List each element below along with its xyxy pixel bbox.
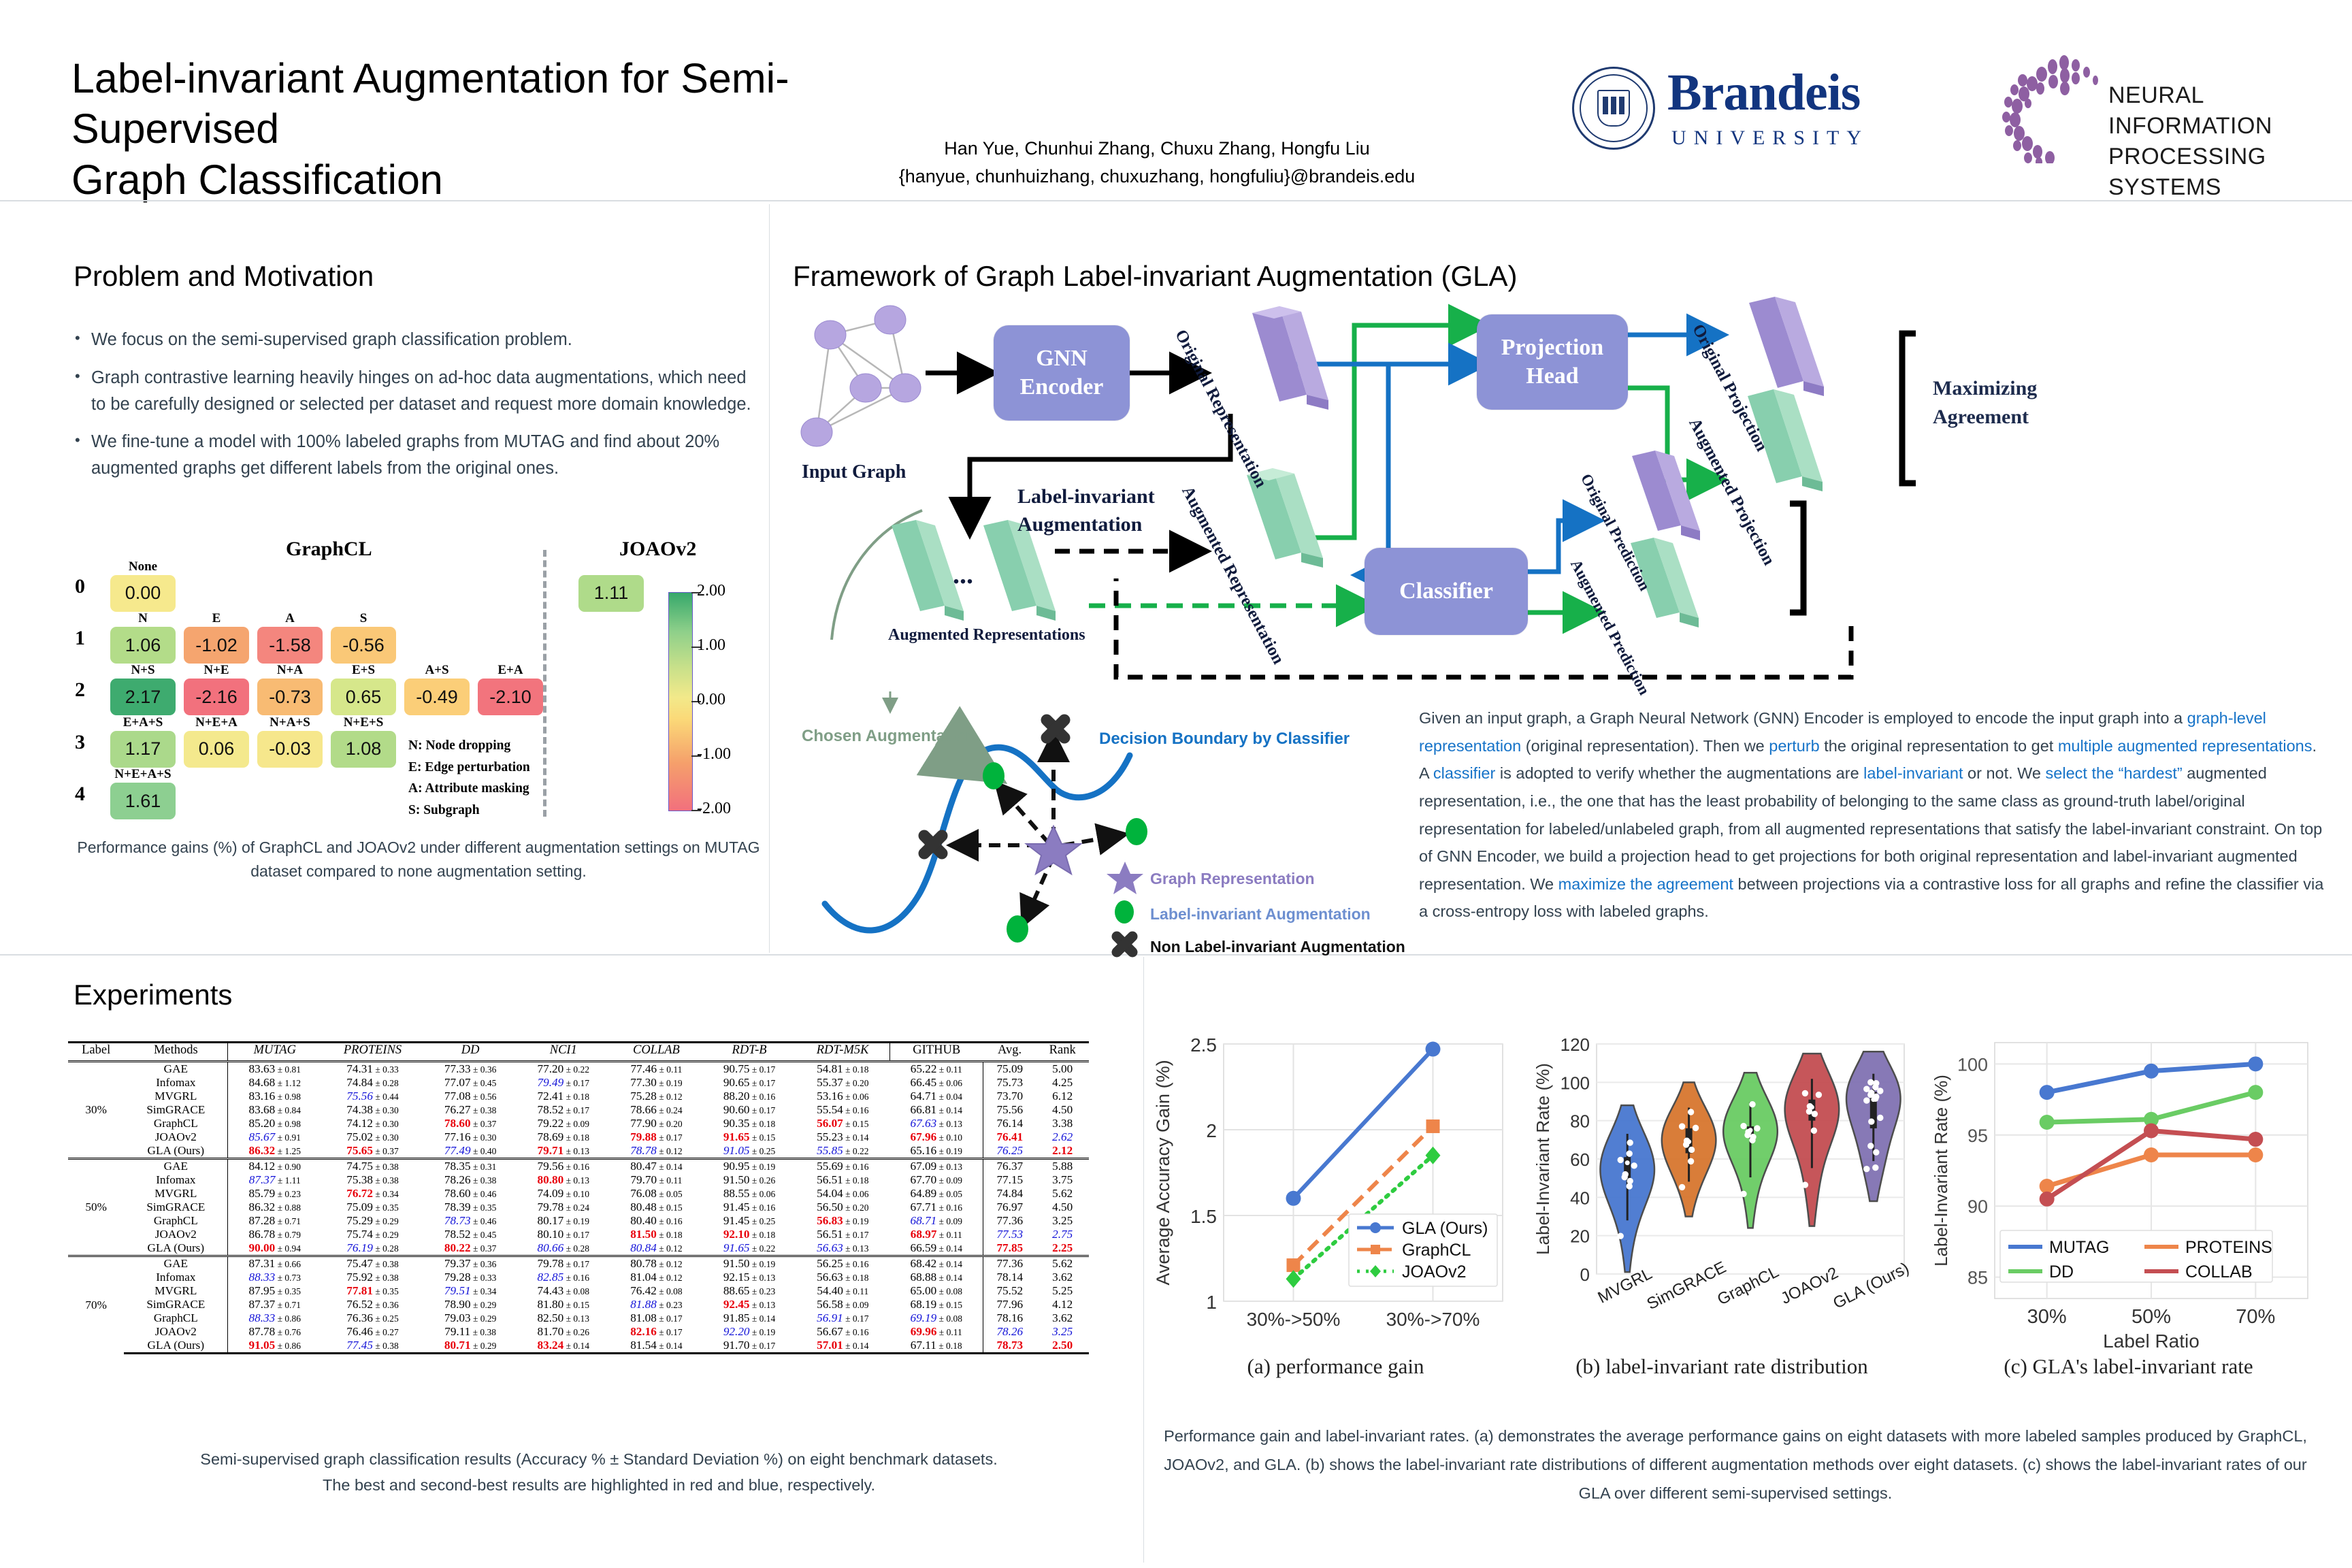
- table-mean-value: 78.60: [444, 1117, 471, 1130]
- table-mean-value: 72.41: [538, 1090, 564, 1102]
- table-cell: 76.36 ± 0.25: [321, 1311, 424, 1325]
- table-std-value: ± 0.13: [936, 1119, 962, 1129]
- table-std-value: ± 0.09: [936, 1216, 962, 1226]
- description-text: Given an input graph, a Graph Neural Net…: [1419, 709, 2187, 727]
- table-std-value: ± 0.18: [657, 1230, 683, 1240]
- table-cell: 83.24 ± 0.14: [517, 1339, 610, 1354]
- table-cell-rank: 5.00: [1036, 1062, 1089, 1077]
- y-tick-label: 85: [1967, 1268, 1988, 1288]
- table-cell: 86.78 ± 0.79: [228, 1228, 321, 1241]
- table-avg-value: 76.25: [996, 1144, 1023, 1157]
- table-avg-value: 74.84: [996, 1187, 1023, 1200]
- table-cell: 77.33 ± 0.36: [424, 1062, 517, 1077]
- table-std-value: ± 0.13: [936, 1162, 962, 1172]
- heatmap-colorbar: [668, 592, 693, 811]
- chart-label-invariant-distribution: 020406080100120MVGRLSimGRACEGraphCLJOAOv…: [1531, 1034, 1916, 1347]
- table-mean-value: 86.32: [249, 1200, 276, 1213]
- table-mean-value: 87.78: [249, 1325, 276, 1338]
- table-mean-value: 83.68: [249, 1103, 276, 1116]
- table-cell: 68.71 ± 0.09: [889, 1214, 983, 1228]
- table-cell: 68.19 ± 0.15: [889, 1298, 983, 1311]
- table-cell: 79.22 ± 0.09: [517, 1117, 610, 1130]
- table-std-value: ± 0.17: [750, 1341, 776, 1351]
- table-std-value: ± 0.16: [843, 1259, 869, 1269]
- table-std-value: ± 0.84: [275, 1105, 301, 1115]
- table-mean-value: 55.37: [817, 1076, 843, 1089]
- table-cell: 77.16 ± 0.30: [424, 1130, 517, 1144]
- heatmap-cell-label: A: [257, 611, 323, 626]
- table-std-value: ± 0.17: [563, 1230, 589, 1240]
- table-method-cell: SimGRACE: [124, 1298, 227, 1311]
- table-cell: 74.75 ± 0.38: [321, 1159, 424, 1174]
- table-cell-avg: 76.41: [983, 1130, 1036, 1144]
- table-std-value: ± 0.38: [373, 1273, 399, 1283]
- table-rank-value: 4.12: [1052, 1298, 1073, 1311]
- classifier-label: Classifier: [1399, 577, 1493, 606]
- table-std-value: ± 1.12: [275, 1078, 301, 1088]
- table-mean-value: 91.70: [723, 1339, 750, 1352]
- table-row: MVGRL85.79 ± 0.2376.72 ± 0.3478.60 ± 0.4…: [68, 1187, 1089, 1200]
- poster-root: Label-invariant Augmentation for Semi-Su…: [0, 0, 2352, 1568]
- results-table-caption: Semi-supervised graph classification res…: [68, 1446, 1130, 1498]
- table-std-value: ± 0.36: [471, 1064, 497, 1075]
- table-rank-value: 5.25: [1052, 1284, 1073, 1297]
- heatmap-title-joaov2: JOAOv2: [619, 538, 696, 561]
- table-cell-avg: 77.85: [983, 1241, 1036, 1256]
- table-std-value: ± 0.24: [563, 1203, 589, 1213]
- table-cell: 55.54 ± 0.16: [796, 1103, 889, 1117]
- table-mean-value: 54.81: [817, 1062, 843, 1075]
- table-mean-value: 90.00: [249, 1241, 276, 1254]
- table-mean-value: 66.59: [910, 1241, 936, 1254]
- table-cell: 80.48 ± 0.15: [610, 1200, 703, 1214]
- table-mean-value: 55.54: [817, 1103, 843, 1116]
- table-std-value: ± 0.30: [471, 1132, 497, 1143]
- table-cell: 66.81 ± 0.14: [889, 1103, 983, 1117]
- table-std-value: ± 0.12: [657, 1146, 683, 1156]
- table-mean-value: 67.71: [910, 1200, 936, 1213]
- table-cell: 77.81 ± 0.35: [321, 1284, 424, 1298]
- table-std-value: ± 0.35: [373, 1203, 399, 1213]
- table-cell-rank: 3.62: [1036, 1311, 1089, 1325]
- table-cell: 84.68 ± 1.12: [228, 1076, 321, 1090]
- table-std-value: ± 0.11: [843, 1286, 868, 1296]
- table-std-value: ± 0.38: [470, 1327, 496, 1337]
- heatmap-row-label: 2: [75, 679, 85, 702]
- table-std-value: ± 0.14: [936, 1273, 962, 1283]
- table-cell: 87.37 ± 0.71: [228, 1298, 321, 1311]
- table-cell: 56.25 ± 0.16: [796, 1256, 889, 1271]
- table-std-value: ± 0.71: [275, 1300, 301, 1310]
- author-emails: {hanyue, chunhuizhang, chuxuzhang, hongf…: [837, 163, 1477, 191]
- table-cell: 55.69 ± 0.16: [796, 1159, 889, 1174]
- table-cell: 87.28 ± 0.71: [228, 1214, 321, 1228]
- table-std-value: ± 0.14: [936, 1243, 962, 1254]
- table-mean-value: 81.50: [630, 1228, 657, 1241]
- table-std-value: ± 0.73: [275, 1273, 301, 1283]
- table-avg-value: 73.70: [996, 1090, 1023, 1102]
- table-std-value: ± 0.56: [471, 1092, 497, 1102]
- table-method-cell: GAE: [124, 1159, 227, 1174]
- table-cell: 83.16 ± 0.98: [228, 1090, 321, 1103]
- table-mean-value: 56.25: [817, 1257, 843, 1270]
- augmentation-heatmap: GraphCL JOAOv2 0None0.001N1.06E-1.02A-1.…: [75, 538, 762, 823]
- table-mean-value: 67.09: [910, 1160, 936, 1173]
- table-std-value: ± 0.23: [657, 1300, 683, 1310]
- table-mean-value: 75.28: [630, 1090, 657, 1102]
- table-cell: 90.95 ± 0.19: [703, 1159, 796, 1174]
- table-cell: 81.04 ± 0.12: [610, 1271, 703, 1284]
- table-mean-value: 80.47: [630, 1160, 657, 1173]
- table-mean-value: 68.71: [910, 1214, 936, 1227]
- table-mean-value: 81.88: [630, 1298, 657, 1311]
- projection-head-label-2: Head: [1526, 363, 1578, 389]
- table-std-value: ± 0.38: [373, 1162, 399, 1172]
- table-cell: 76.27 ± 0.38: [424, 1103, 517, 1117]
- brandeis-logo: Brandeis UNIVERSITY: [1572, 60, 1933, 155]
- augmented-representations-label: Augmented Representations: [888, 626, 1085, 644]
- classifier-box: Classifier: [1365, 548, 1528, 635]
- table-cell: 78.52 ± 0.17: [517, 1103, 610, 1117]
- table-std-value: ± 0.29: [471, 1313, 497, 1324]
- table-cell: 90.60 ± 0.17: [703, 1103, 796, 1117]
- table-mean-value: 90.65: [723, 1076, 750, 1089]
- table-cell: 77.46 ± 0.11: [610, 1062, 703, 1077]
- table-mean-value: 74.43: [538, 1284, 564, 1297]
- table-method-cell: GraphCL: [124, 1117, 227, 1130]
- table-mean-value: 83.24: [538, 1339, 564, 1352]
- table-mean-value: 88.55: [723, 1187, 750, 1200]
- table-cell: 81.80 ± 0.15: [517, 1298, 610, 1311]
- table-rank-value: 5.88: [1052, 1160, 1073, 1173]
- table-avg-value: 78.73: [996, 1339, 1023, 1352]
- legend-entry: DD: [2049, 1262, 2074, 1281]
- table-cell-avg: 75.09: [983, 1062, 1036, 1077]
- table-mean-value: 77.07: [444, 1076, 471, 1089]
- table-cell: 74.38 ± 0.30: [321, 1103, 424, 1117]
- table-cell: 83.63 ± 0.81: [228, 1062, 321, 1077]
- table-std-value: ± 0.13: [563, 1146, 589, 1156]
- table-cell: 64.71 ± 0.04: [889, 1090, 983, 1103]
- table-method-cell: JOAOv2: [124, 1325, 227, 1339]
- heatmap-cell: 1.61: [110, 783, 176, 819]
- decision-boundary-label: Decision Boundary by Classifier: [1099, 730, 1350, 749]
- table-column-header: RDT-B: [703, 1043, 796, 1062]
- table-cell-rank: 2.62: [1036, 1130, 1089, 1144]
- table-mean-value: 91.65: [723, 1241, 750, 1254]
- table-mean-value: 74.09: [538, 1187, 564, 1200]
- chart-a-caption: (a) performance gain: [1150, 1354, 1521, 1379]
- heatmap-cell-label: N+A+S: [257, 715, 323, 730]
- table-mean-value: 80.22: [444, 1241, 471, 1254]
- table-mean-value: 75.47: [346, 1257, 373, 1270]
- table-mean-value: 75.09: [346, 1200, 373, 1213]
- table-std-value: ± 0.46: [471, 1216, 497, 1226]
- table-std-value: ± 0.98: [275, 1092, 301, 1102]
- heatmap-cell: 1.17: [110, 731, 176, 768]
- table-row: 70%GAE87.31 ± 0.6675.47 ± 0.3879.37 ± 0.…: [68, 1256, 1089, 1271]
- legend-entry: MUTAG: [2049, 1238, 2109, 1257]
- table-rank-value: 6.12: [1052, 1090, 1073, 1102]
- description-highlight: select the “hardest”: [2046, 764, 2183, 782]
- table-std-value: ± 0.18: [843, 1064, 869, 1075]
- table-mean-value: 56.07: [817, 1117, 843, 1130]
- table-mean-value: 56.50: [817, 1200, 843, 1213]
- table-column-header: GITHUB: [889, 1043, 983, 1062]
- table-std-value: ± 0.38: [471, 1175, 497, 1186]
- table-row: Infomax88.33 ± 0.7375.92 ± 0.3879.28 ± 0…: [68, 1271, 1089, 1284]
- colorbar-tick-label: 0.00: [697, 691, 725, 709]
- table-mean-value: 87.95: [249, 1284, 276, 1297]
- table-std-value: ± 0.38: [471, 1105, 497, 1115]
- table-cell: 85.20 ± 0.98: [228, 1117, 321, 1130]
- table-cell: 79.11 ± 0.38: [424, 1325, 517, 1339]
- table-cell: 74.12 ± 0.30: [321, 1117, 424, 1130]
- table-mean-value: 77.46: [630, 1062, 657, 1075]
- list-item: • We fine-tune a model with 100% labeled…: [75, 429, 755, 482]
- table-cell: 76.19 ± 0.28: [321, 1241, 424, 1256]
- heatmap-cell: 0.65: [331, 679, 396, 715]
- page-title: Label-invariant Augmentation for Semi-Su…: [71, 53, 854, 205]
- table-avg-value: 77.85: [996, 1241, 1023, 1254]
- table-cell: 74.84 ± 0.28: [321, 1076, 424, 1090]
- table-cell: 79.49 ± 0.17: [517, 1076, 610, 1090]
- heatmap-legend-note: A: Attribute masking: [408, 778, 530, 800]
- description-text: (original representation). Then we: [1521, 737, 1769, 755]
- table-std-value: ± 0.29: [471, 1300, 497, 1310]
- colorbar-tick-label: -1.00: [697, 745, 731, 764]
- table-std-value: ± 0.18: [563, 1092, 589, 1102]
- table-mean-value: 69.96: [911, 1325, 937, 1338]
- table-std-value: ± 0.86: [275, 1313, 301, 1324]
- table-mean-value: 78.90: [444, 1298, 471, 1311]
- framework-description: Given an input graph, a Graph Neural Net…: [1419, 704, 2324, 926]
- table-std-value: ± 0.19: [750, 1162, 776, 1172]
- table-cell: 91.70 ± 0.17: [703, 1339, 796, 1354]
- framework-diagram: GNN Encoder Projection Head Classifier: [789, 286, 2334, 694]
- table-cell: 88.33 ± 0.86: [228, 1311, 321, 1325]
- table-cell: 56.58 ± 0.09: [796, 1298, 889, 1311]
- table-mean-value: 91.45: [723, 1214, 750, 1227]
- table-cell: 78.73 ± 0.46: [424, 1214, 517, 1228]
- table-mean-value: 87.37: [249, 1173, 276, 1186]
- table-cell-avg: 77.53: [983, 1228, 1036, 1241]
- gnn-encoder-label-2: Encoder: [1020, 374, 1104, 399]
- table-cell: 78.39 ± 0.35: [424, 1200, 517, 1214]
- table-std-value: ± 0.18: [843, 1175, 869, 1186]
- heatmap-cell: -2.10: [478, 679, 543, 715]
- bullet-text: Graph contrastive learning heavily hinge…: [91, 365, 755, 418]
- x-tick-label: 50%: [2131, 1306, 2171, 1328]
- legend-entry: GraphCL: [1402, 1241, 1471, 1260]
- table-std-value: ± 0.11: [936, 1327, 962, 1337]
- table-cell-avg: 78.73: [983, 1339, 1036, 1354]
- table-cell: 90.35 ± 0.18: [703, 1117, 796, 1130]
- table-mean-value: 65.22: [911, 1062, 937, 1075]
- maximizing-agreement-label: Maximizing Agreement: [1933, 374, 2037, 431]
- table-cell: 53.16 ± 0.06: [796, 1090, 889, 1103]
- table-rank-value: 3.25: [1052, 1325, 1073, 1338]
- author-names: Han Yue, Chunhui Zhang, Chuxu Zhang, Hon…: [837, 135, 1477, 163]
- table-std-value: ± 0.19: [843, 1216, 869, 1226]
- table-std-value: ± 0.25: [373, 1313, 399, 1324]
- table-cell: 79.78 ± 0.24: [517, 1200, 610, 1214]
- table-mean-value: 74.84: [346, 1076, 373, 1089]
- table-std-value: ± 0.10: [936, 1132, 962, 1143]
- table-cell-avg: 75.73: [983, 1076, 1036, 1090]
- y-tick-label: 40: [1570, 1188, 1590, 1208]
- bullet-text: We fine-tune a model with 100% labeled g…: [91, 429, 755, 482]
- table-cell: 75.74 ± 0.29: [321, 1228, 424, 1241]
- table-rank-value: 4.25: [1052, 1076, 1073, 1089]
- table-cell: 88.55 ± 0.06: [703, 1187, 796, 1200]
- table-cell-rank: 2.50: [1036, 1339, 1089, 1354]
- author-block: Han Yue, Chunhui Zhang, Chuxu Zhang, Hon…: [837, 135, 1477, 190]
- table-mean-value: 85.79: [249, 1187, 276, 1200]
- table-std-value: ± 0.14: [657, 1162, 683, 1172]
- table-mean-value: 80.84: [630, 1241, 657, 1254]
- poster-header: Label-invariant Augmentation for Semi-Su…: [0, 0, 2352, 204]
- table-mean-value: 80.10: [538, 1228, 564, 1241]
- table-cell: 91.50 ± 0.19: [703, 1256, 796, 1271]
- heatmap-cell-label: None: [110, 559, 176, 574]
- table-std-value: ± 0.16: [750, 1092, 776, 1102]
- table-std-value: ± 0.12: [657, 1259, 683, 1269]
- y-tick-label: 0: [1580, 1264, 1590, 1285]
- table-std-value: ± 0.94: [275, 1243, 301, 1254]
- table-cell: 77.49 ± 0.40: [424, 1144, 517, 1159]
- table-cell: 56.67 ± 0.16: [796, 1325, 889, 1339]
- table-std-value: ± 0.79: [275, 1230, 301, 1240]
- results-table: LabelMethodsMUTAGPROTEINSDDNCI1COLLABRDT…: [68, 1041, 1089, 1354]
- table-mean-value: 79.88: [630, 1130, 657, 1143]
- table-std-value: ± 0.16: [750, 1203, 776, 1213]
- table-std-value: ± 0.15: [936, 1300, 962, 1310]
- table-mean-value: 79.11: [444, 1325, 470, 1338]
- colorbar-tick-label: 1.00: [697, 636, 725, 655]
- table-avg-value: 75.09: [996, 1062, 1023, 1075]
- table-cell: 77.30 ± 0.19: [610, 1076, 703, 1090]
- table-mean-value: 82.16: [630, 1325, 657, 1338]
- table-std-value: ± 0.17: [843, 1230, 869, 1240]
- table-std-value: ± 0.29: [471, 1341, 497, 1351]
- neurips-line-2: PROCESSING SYSTEMS: [2108, 142, 2334, 203]
- heatmap-legend-note: E: Edge perturbation: [408, 757, 530, 779]
- table-mean-value: 77.30: [630, 1076, 657, 1089]
- legend-graph-representation: Graph Representation: [1150, 870, 1315, 888]
- table-mean-value: 54.04: [817, 1187, 843, 1200]
- table-std-value: ± 0.44: [373, 1092, 399, 1102]
- table-mean-value: 77.20: [538, 1062, 564, 1075]
- table-std-value: ± 0.14: [563, 1341, 589, 1351]
- problem-bullet-list: • We focus on the semi-supervised graph …: [75, 327, 755, 493]
- table-method-cell: JOAOv2: [124, 1130, 227, 1144]
- table-cell: 92.15 ± 0.13: [703, 1271, 796, 1284]
- section-title-problem: Problem and Motivation: [73, 260, 374, 293]
- table-std-value: ± 0.38: [373, 1341, 399, 1351]
- y-tick-label: 95: [1967, 1126, 1988, 1146]
- table-std-value: ± 0.08: [936, 1286, 962, 1296]
- table-std-value: ± 0.13: [750, 1300, 776, 1310]
- table-std-value: ± 0.09: [936, 1175, 962, 1186]
- y-tick-label: 100: [1957, 1054, 1988, 1075]
- table-std-value: ± 0.30: [373, 1105, 399, 1115]
- table-cell: 57.01 ± 0.14: [796, 1339, 889, 1354]
- table-std-value: ± 0.09: [563, 1119, 589, 1129]
- description-text: is adopted to verify whether the augment…: [1495, 764, 1863, 782]
- table-mean-value: 79.37: [444, 1257, 471, 1270]
- table-std-value: ± 0.17: [563, 1078, 589, 1088]
- table-avg-value: 76.14: [996, 1117, 1023, 1130]
- table-std-value: ± 0.12: [657, 1243, 683, 1254]
- table-cell: 74.09 ± 0.10: [517, 1187, 610, 1200]
- table-cell-rank: 2.12: [1036, 1144, 1089, 1159]
- table-cell-avg: 78.26: [983, 1325, 1036, 1339]
- bullet-dot-icon: •: [75, 365, 91, 418]
- table-cell: 82.85 ± 0.16: [517, 1271, 610, 1284]
- x-tick-label: 30%: [2027, 1306, 2067, 1328]
- table-std-value: ± 0.29: [373, 1216, 399, 1226]
- table-cell-rank: 6.12: [1036, 1090, 1089, 1103]
- table-mean-value: 76.72: [346, 1187, 373, 1200]
- table-body: 30%GAE83.63 ± 0.8174.31 ± 0.3377.33 ± 0.…: [68, 1062, 1089, 1354]
- header-divider: [0, 200, 2352, 201]
- table-cell: 81.50 ± 0.18: [610, 1228, 703, 1241]
- description-highlight: multiple augmented representations: [2058, 737, 2313, 755]
- table-mean-value: 57.01: [817, 1339, 843, 1352]
- table-cell: 76.46 ± 0.27: [321, 1325, 424, 1339]
- table-cell-rank: 4.50: [1036, 1200, 1089, 1214]
- table-mean-value: 74.38: [346, 1103, 373, 1116]
- table-cell-rank: 2.25: [1036, 1241, 1089, 1256]
- table-cell: 55.85 ± 0.22: [796, 1144, 889, 1159]
- table-cell: 55.37 ± 0.20: [796, 1076, 889, 1090]
- heatmap-row-label: 0: [75, 575, 85, 598]
- table-mean-value: 91.85: [723, 1311, 750, 1324]
- chart-gla-label-invariant-rate: 85909510030%50%70%Label RatioLabel-Invar…: [1929, 1034, 2327, 1347]
- table-mean-value: 55.69: [817, 1160, 843, 1173]
- brandeis-wordmark: Brandeis: [1667, 67, 1860, 118]
- table-mean-value: 77.90: [630, 1117, 657, 1130]
- table-cell: 79.56 ± 0.16: [517, 1159, 610, 1174]
- table-mean-value: 79.22: [538, 1117, 564, 1130]
- table-std-value: ± 0.15: [843, 1119, 869, 1129]
- table-cell: 68.97 ± 0.11: [889, 1228, 983, 1241]
- table-std-value: ± 0.27: [373, 1327, 399, 1337]
- table-std-value: ± 0.04: [936, 1092, 962, 1102]
- heatmap-cell: -0.73: [257, 679, 323, 715]
- table-cell: 75.28 ± 0.12: [610, 1090, 703, 1103]
- table-cell: 91.05 ± 0.25: [703, 1144, 796, 1159]
- table-cell: 92.45 ± 0.13: [703, 1298, 796, 1311]
- table-std-value: ± 0.09: [843, 1300, 869, 1310]
- table-cell: 72.41 ± 0.18: [517, 1090, 610, 1103]
- table-avg-value: 75.73: [996, 1076, 1023, 1089]
- table-mean-value: 76.36: [346, 1311, 373, 1324]
- table-mean-value: 75.74: [346, 1228, 373, 1241]
- table-cell-rank: 4.50: [1036, 1103, 1089, 1117]
- table-mean-value: 77.16: [444, 1130, 471, 1143]
- table-std-value: ± 0.19: [657, 1078, 683, 1088]
- table-std-value: ± 0.81: [275, 1064, 301, 1075]
- table-cell: 87.31 ± 0.66: [228, 1256, 321, 1271]
- table-cell: 77.07 ± 0.45: [424, 1076, 517, 1090]
- y-tick-label: 60: [1570, 1149, 1590, 1170]
- table-mean-value: 80.71: [444, 1339, 471, 1352]
- table-std-value: ± 0.76: [275, 1327, 301, 1337]
- table-mean-value: 77.49: [444, 1144, 471, 1157]
- table-cell: 92.20 ± 0.19: [703, 1325, 796, 1339]
